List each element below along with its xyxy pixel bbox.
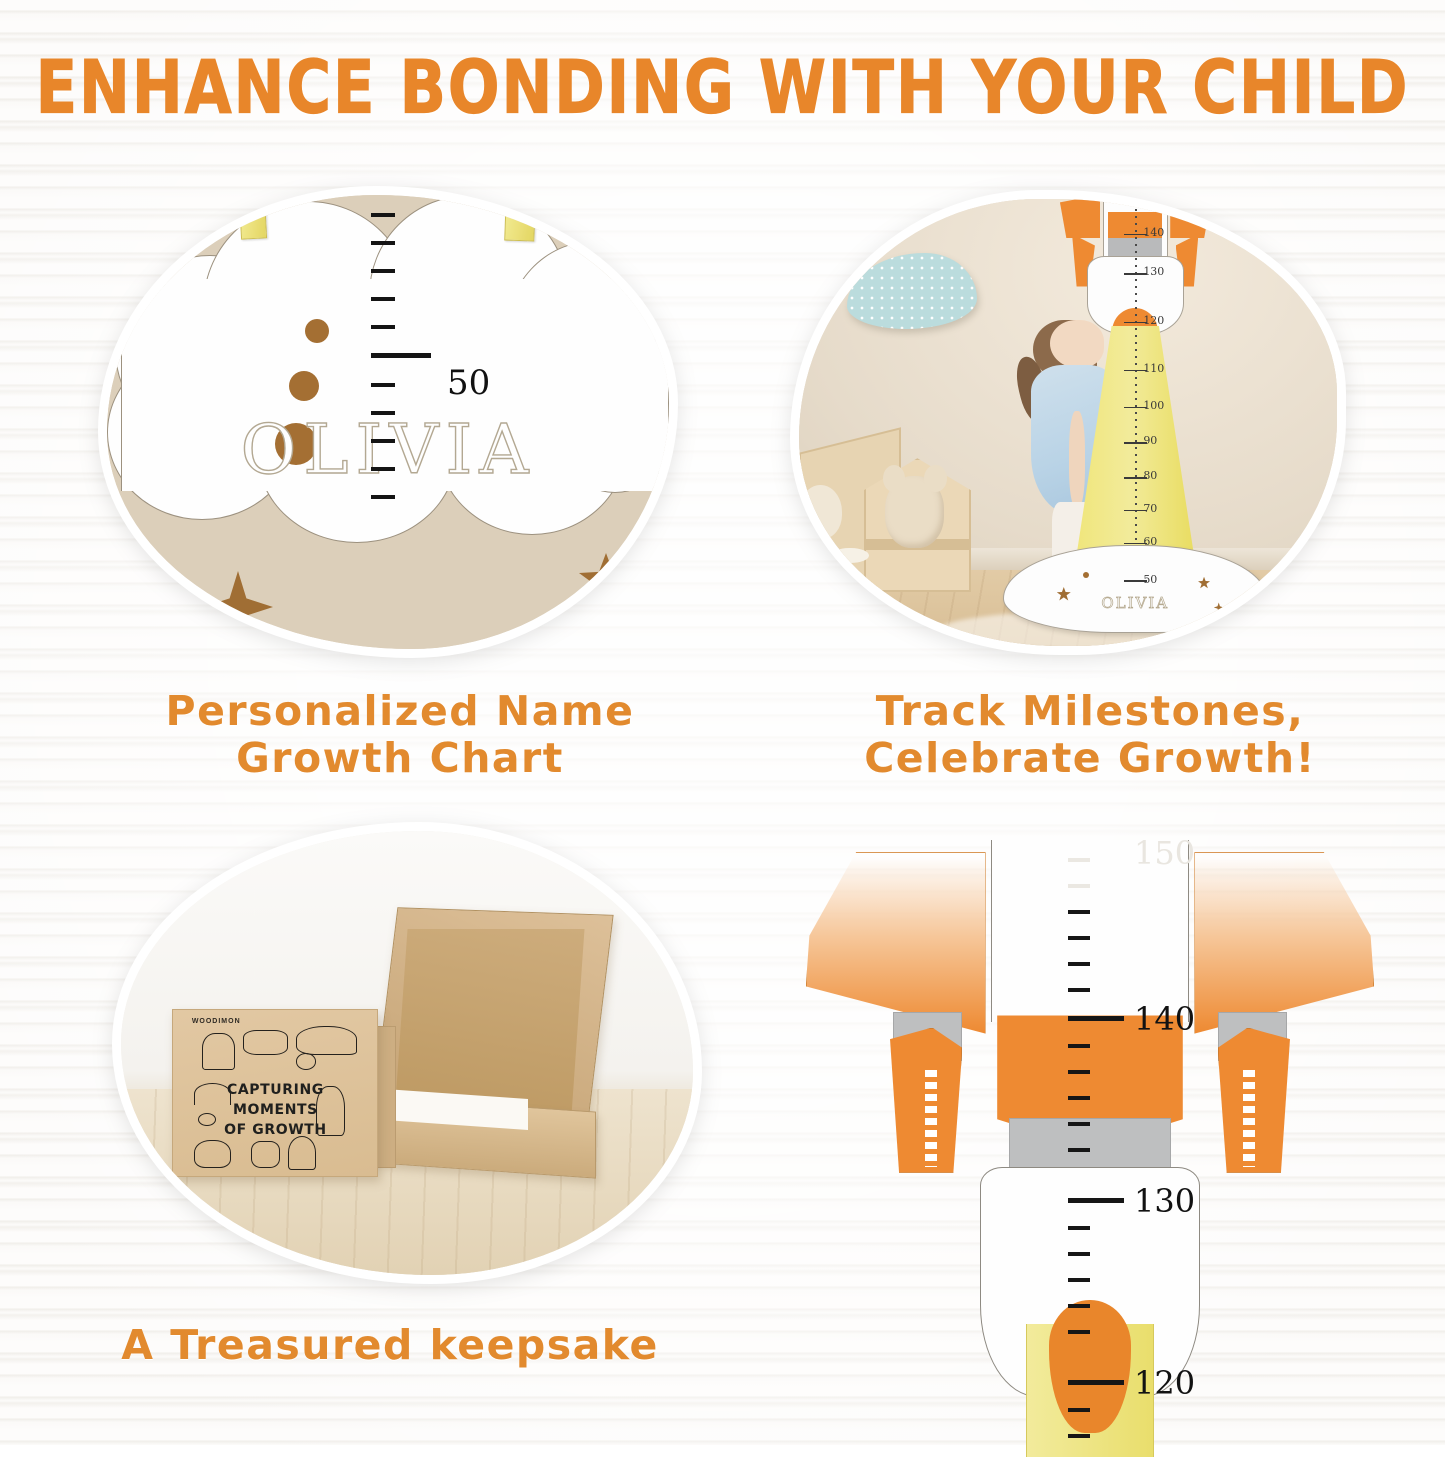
panel-room-lifestyle-photo: 140 130 120 110 100 90 80 70 60 OLIVIA (790, 190, 1346, 655)
doodle-dinosaur (296, 1026, 357, 1054)
scale-label: 50 (1143, 573, 1157, 586)
panel-personalized-name-cloud-board: 50 OLIVIA (98, 186, 678, 658)
box-tagline-line: CAPTURING (173, 1080, 377, 1100)
caption-treasured-keepsake: A Treasured keepsake (110, 1322, 670, 1369)
scale-label: 100 (1143, 399, 1164, 412)
rocket-fin-dots-left (925, 1070, 938, 1167)
wood-dot-medium (289, 371, 319, 401)
caption-personalized-name: Personalized Name Growth Chart (120, 688, 680, 782)
rocket-orange-drop-large (1049, 1300, 1130, 1433)
doodle-lion (243, 1030, 288, 1055)
plush-toy-left (799, 485, 842, 539)
rocket-wing-large-left (806, 852, 986, 1034)
ruler-scale: 50 (371, 207, 491, 427)
box-brand-logo: WOODIMON (192, 1018, 241, 1025)
doodle-mushroom (296, 1053, 316, 1070)
scale-label: 140 (1143, 226, 1164, 239)
doodle-bird (194, 1140, 231, 1168)
teddy-bear (885, 476, 944, 548)
cloud-engraved-name: OLIVIA (1004, 594, 1266, 612)
caption-line: A Treasured keepsake (110, 1322, 670, 1369)
plush-dog (804, 574, 879, 619)
panel-packaging-box-photo: WOODIMON CAPTURING MOMENTS OF GROWTH (112, 822, 702, 1284)
panel-1-blob-frame: 50 OLIVIA (98, 186, 678, 658)
ruler-label-50: 50 (447, 363, 490, 403)
rocket-wing-large-right (1194, 852, 1374, 1034)
fruit-plate (831, 548, 869, 564)
wood-star-small-right (623, 657, 657, 658)
studio-backdrop: WOODIMON CAPTURING MOMENTS OF GROWTH (121, 831, 693, 1275)
scale-label: 90 (1143, 434, 1157, 447)
box-tagline-line: OF GROWTH (173, 1120, 377, 1140)
scale-label: 110 (1143, 362, 1164, 375)
caption-track-milestones: Track Milestones, Celebrate Growth! (840, 688, 1340, 782)
box-tagline: CAPTURING MOMENTS OF GROWTH (173, 1080, 377, 1141)
panel-2-blob-frame: 140 130 120 110 100 90 80 70 60 OLIVIA (790, 190, 1346, 655)
box-front-face: WOODIMON CAPTURING MOMENTS OF GROWTH (172, 1009, 378, 1178)
room-scene: 140 130 120 110 100 90 80 70 60 OLIVIA (799, 199, 1337, 646)
scale-label: 120 (1143, 314, 1164, 327)
doodle-palm-tree (288, 1136, 317, 1169)
yellow-tape-right (504, 196, 536, 241)
caption-line: Celebrate Growth! (840, 735, 1340, 782)
wood-dot-cloud (1083, 572, 1089, 578)
scale-label-130: 130 (1134, 1182, 1195, 1220)
yellow-tape-left (239, 196, 267, 239)
caption-line: Growth Chart (120, 735, 680, 782)
wood-star-cloud-right (1198, 577, 1210, 589)
box-tagline-line: MOMENTS (173, 1100, 377, 1120)
rocket-fin-dots-right (1243, 1070, 1256, 1167)
caption-line: Track Milestones, (840, 688, 1340, 735)
scale-label-150: 150 (1134, 834, 1195, 872)
scale-label: 80 (1143, 469, 1157, 482)
scale-label-140: 140 (1134, 1000, 1195, 1038)
doodle-leopard (251, 1141, 280, 1168)
page-title: ENHANCE BONDING WITH YOUR CHILD (14, 44, 1430, 130)
scale-label: 130 (1143, 265, 1164, 278)
rocket-growth-chart: 140 130 120 110 100 90 80 70 60 OLIVIA (1068, 195, 1203, 633)
caption-line: Personalized Name (120, 688, 680, 735)
panel-rocket-chart-closeup: 150 140 130 120 (800, 840, 1380, 1445)
scale-label: 70 (1143, 502, 1157, 515)
wood-dot-small (305, 319, 329, 343)
box-open-inner-wall (395, 929, 585, 1115)
doodle-cactus (202, 1033, 235, 1070)
scale-label-120: 120 (1134, 1364, 1195, 1402)
panel-3-blob-frame: WOODIMON CAPTURING MOMENTS OF GROWTH (112, 822, 702, 1284)
